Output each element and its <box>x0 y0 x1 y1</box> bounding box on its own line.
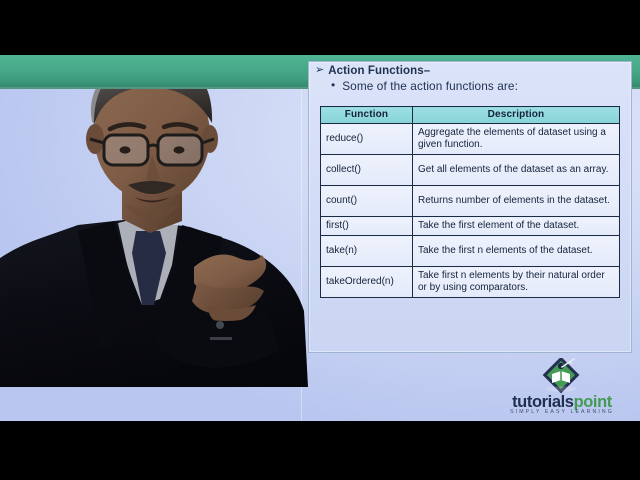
cell-description: Returns number of elements in the datase… <box>413 186 620 217</box>
table-row: take(n) Take the first n elements of the… <box>321 236 620 267</box>
cell-function: first() <box>321 217 413 236</box>
table-row: count() Returns number of elements in th… <box>321 186 620 217</box>
cell-description: Take the first element of the dataset. <box>413 217 620 236</box>
action-functions-table: Function Description reduce() Aggregate … <box>320 106 620 298</box>
cell-function: count() <box>321 186 413 217</box>
slide-content-panel: ➢ Action Functions– • Some of the action… <box>308 61 632 353</box>
heading-label: Action Functions– <box>328 65 430 77</box>
watermark-brand: tutorialspoint <box>496 394 628 410</box>
table-header-row: Function Description <box>321 107 620 124</box>
lecture-video-frame: Spark Action Functions ➢ Action Function… <box>0 55 640 421</box>
watermark-tagline: SIMPLY EASY LEARNING <box>496 409 628 415</box>
cell-description: Take the first n elements of the dataset… <box>413 236 620 267</box>
table-row: collect() Get all elements of the datase… <box>321 155 620 186</box>
table-row: first() Take the first element of the da… <box>321 217 620 236</box>
dot-bullet-icon: • <box>331 79 335 91</box>
book-diamond-logo-icon <box>538 358 584 396</box>
cell-description: Take first n elements by their natural o… <box>413 267 620 298</box>
cell-function: reduce() <box>321 124 413 155</box>
subpoint-some-of-the-action-functions: • Some of the action functions are: <box>309 77 631 93</box>
table-row: reduce() Aggregate the elements of datas… <box>321 124 620 155</box>
table-row: takeOrdered(n) Take first n elements by … <box>321 267 620 298</box>
cell-function: takeOrdered(n) <box>321 267 413 298</box>
column-header-function: Function <box>321 107 413 124</box>
cell-description: Get all elements of the dataset as an ar… <box>413 155 620 186</box>
cell-function: collect() <box>321 155 413 186</box>
cell-description: Aggregate the elements of dataset using … <box>413 124 620 155</box>
presenter-figure <box>0 55 312 387</box>
column-header-description: Description <box>413 107 620 124</box>
heading-action-functions: ➢ Action Functions– <box>309 62 631 77</box>
cell-function: take(n) <box>321 236 413 267</box>
letterbox-top <box>0 0 640 55</box>
letterbox-bottom <box>0 421 640 480</box>
video-player-screenshot: Spark Action Functions ➢ Action Function… <box>0 0 640 480</box>
subpoint-label: Some of the action functions are: <box>342 79 518 93</box>
tutorialspoint-watermark: tutorialspoint SIMPLY EASY LEARNING <box>496 358 628 416</box>
arrow-bullet-icon: ➢ <box>315 65 324 76</box>
